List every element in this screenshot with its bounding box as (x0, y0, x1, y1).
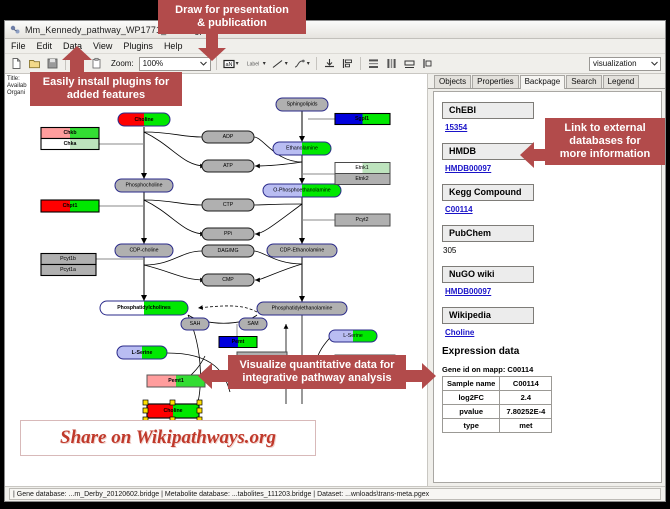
tool-bar: Zoom: 100% aN ▾ Label ▾ ▾ (5, 54, 665, 74)
row-key: log2FC (443, 391, 500, 405)
svg-text:L-Serine: L-Serine (132, 350, 153, 356)
menu-bar: File Edit Data View Plugins Help (5, 39, 665, 54)
node-sphingolipids: Sphingolipids (276, 98, 328, 111)
row-key: type (443, 419, 500, 433)
title-bar: Mm_Kennedy_pathway_WP1771_45176.gpml (5, 21, 665, 39)
node-l-serine-left: L-Serine (117, 346, 167, 359)
db-block-nugo: NuGO wiki HMDB00097 (442, 264, 661, 296)
node-cmp: CMP (202, 274, 254, 286)
chevron-down-icon (650, 60, 658, 68)
node-chkb: Chkb (41, 128, 99, 139)
visualization-value: visualization (593, 59, 637, 68)
node-choline-top: Choline (118, 113, 170, 126)
side-panel-tabs: Objects Properties Backpage Search Legen… (428, 74, 665, 89)
table-row: Sample name C00114 (443, 377, 552, 391)
svg-text:O-Phosphoethanolamine: O-Phosphoethanolamine (273, 188, 331, 194)
distribute-horizontal-icon[interactable] (384, 56, 399, 71)
gene-id-line: Gene id on mapp: C00114 (442, 365, 661, 374)
expression-data-title: Expression data (442, 346, 661, 357)
db-block-kegg: Kegg Compound C00114 (442, 182, 661, 214)
chevron-down-icon: ▾ (263, 61, 266, 67)
callout-draw: Draw for presentation & publication (158, 0, 306, 34)
svg-text:Sphingolipids: Sphingolipids (287, 102, 318, 108)
callout-draw-line2: & publication (166, 17, 298, 30)
svg-text:Label: Label (247, 62, 259, 68)
db-link-wikipedia[interactable]: Choline (445, 328, 661, 337)
svg-text:Ethanolamine: Ethanolamine (286, 146, 318, 152)
callout-plugins: Easily install plugins for added feature… (30, 72, 182, 106)
node-pcyt1b: Pcyt1b (41, 254, 96, 265)
callout-link: Link to external databases for more info… (545, 118, 665, 165)
node-pcyt2: Pcyt2 (335, 214, 390, 226)
svg-text:Etnk2: Etnk2 (355, 176, 368, 182)
save-icon[interactable] (45, 56, 60, 71)
chevron-down-icon: ▾ (285, 61, 288, 67)
toolbar-separator-4 (360, 57, 361, 70)
status-text: | Gene database: ...m_Derby_20120602.bri… (9, 488, 661, 500)
node-etnk1: Etnk1 (335, 163, 390, 174)
callout-link-line1: Link to external (553, 122, 657, 135)
svg-text:Chka: Chka (64, 141, 77, 147)
share-banner-text: Share on Wikipathways.org (60, 427, 276, 449)
align-width-icon[interactable] (402, 56, 417, 71)
distribute-vertical-icon[interactable] (366, 56, 381, 71)
svg-text:ATP: ATP (223, 163, 233, 169)
node-sgpl1: Sgpl1 (335, 114, 390, 125)
callout-plugins-arrow (60, 46, 96, 74)
node-chpt1: Chpt1 (41, 200, 99, 212)
table-row: type met (443, 419, 552, 433)
align-stack-icon[interactable] (420, 56, 435, 71)
db-link-nugo[interactable]: HMDB00097 (445, 287, 661, 296)
svg-text:PPi: PPi (224, 231, 232, 237)
callout-link-arrow (520, 140, 548, 170)
svg-text:DAG/MG: DAG/MG (217, 248, 238, 254)
svg-text:CTP: CTP (223, 202, 234, 208)
node-pemt: Pemt (219, 337, 257, 348)
line-tool[interactable]: ▾ (270, 56, 289, 71)
interaction-tool[interactable]: ▾ (292, 56, 311, 71)
callout-link-line2: databases for (553, 135, 657, 148)
tab-search[interactable]: Search (566, 75, 601, 88)
svg-text:L-Serine: L-Serine (343, 333, 363, 339)
svg-text:Pcyt2: Pcyt2 (356, 217, 369, 223)
row-key: pvalue (443, 405, 500, 419)
svg-text:SAM: SAM (247, 321, 258, 327)
menu-edit[interactable]: Edit (36, 41, 54, 51)
table-row: pvalue 7.80252E-4 (443, 405, 552, 419)
db-heading-pubchem: PubChem (442, 225, 534, 242)
node-ppi: PPi (202, 228, 254, 240)
open-folder-icon[interactable] (27, 56, 42, 71)
db-value-pubchem: 305 (443, 246, 661, 255)
node-cdp-ethanolamine: CDP-Ethanolamine (267, 244, 337, 257)
node-pemt1: Pemt1 (147, 375, 205, 387)
node-sam: SAM (239, 318, 267, 330)
node-phosphocholine: Phosphocholine (115, 179, 173, 192)
tab-backpage[interactable]: Backpage (520, 75, 566, 89)
svg-text:CDP-Ethanolamine: CDP-Ethanolamine (280, 248, 325, 254)
table-row: log2FC 2.4 (443, 391, 552, 405)
callout-visualize-arrow-left (198, 362, 230, 390)
node-chka: Chka (41, 139, 99, 150)
node-o-phosphoethanolamine: O-Phosphoethanolamine (263, 184, 341, 197)
callout-link-line3: more information (553, 148, 657, 161)
app-icon (9, 24, 21, 36)
menu-help[interactable]: Help (163, 41, 184, 51)
svg-text:Etnk1: Etnk1 (355, 165, 368, 171)
node-dag-mg: DAG/MG (202, 245, 254, 257)
svg-text:Chkb: Chkb (64, 130, 77, 136)
row-value: C00114 (500, 377, 552, 391)
node-ethanolamine-1: Ethanolamine (273, 142, 331, 155)
share-banner: Share on Wikipathways.org (20, 420, 316, 456)
row-value: 2.4 (500, 391, 552, 405)
chevron-down-icon: ▾ (307, 61, 310, 67)
node-sah: SAH (181, 318, 209, 330)
node-phosphatidylethanolamine: Phosphatidylethanolamine (257, 302, 347, 315)
menu-plugins[interactable]: Plugins (122, 41, 154, 51)
svg-text:CMP: CMP (222, 277, 234, 283)
row-key: Sample name (443, 377, 500, 391)
row-value: met (500, 419, 552, 433)
db-link-kegg[interactable]: C00114 (445, 205, 661, 214)
node-pcyt1a: Pcyt1a (41, 265, 96, 276)
node-cdp-choline: CDP-choline (115, 244, 173, 257)
callout-visualize-line2: integrative pathway analysis (236, 372, 398, 385)
zoom-label: Zoom: (111, 59, 134, 68)
label-tool[interactable]: Label ▾ (243, 56, 267, 71)
db-block-pubchem: PubChem 305 (442, 223, 661, 255)
svg-text:Pemt: Pemt (232, 339, 245, 345)
expression-table: Sample name C00114 log2FC 2.4 pvalue 7.8… (442, 376, 552, 433)
callout-visualize-line1: Visualize quantitative data for (236, 359, 398, 372)
tab-legend[interactable]: Legend (603, 75, 640, 88)
status-bar: | Gene database: ...m_Derby_20120602.bri… (5, 486, 665, 501)
new-file-icon[interactable] (9, 56, 24, 71)
svg-text:Sgpl1: Sgpl1 (355, 116, 369, 122)
tab-objects[interactable]: Objects (434, 75, 471, 88)
node-ctp: CTP (202, 199, 254, 211)
db-heading-kegg: Kegg Compound (442, 184, 534, 201)
svg-text:SAH: SAH (190, 321, 201, 327)
callout-plugins-line2: added features (38, 89, 174, 102)
callout-plugins-line1: Easily install plugins for (38, 76, 174, 89)
svg-text:Choline: Choline (163, 408, 182, 414)
toolbar-separator-3 (316, 57, 317, 70)
svg-text:Pcyt1a: Pcyt1a (60, 267, 76, 273)
callout-visualize: Visualize quantitative data for integrat… (228, 355, 406, 389)
db-heading-nugo: NuGO wiki (442, 266, 534, 283)
db-heading-wikipedia: Wikipedia (442, 307, 534, 324)
svg-text:Pemt1: Pemt1 (168, 378, 184, 384)
node-l-serine-right: L-Serine (329, 330, 377, 342)
callout-visualize-arrow-right (404, 362, 436, 390)
row-value: 7.80252E-4 (500, 405, 552, 419)
callout-draw-arrow (195, 34, 229, 62)
svg-text:aN: aN (225, 62, 232, 68)
svg-text:ADP: ADP (223, 134, 234, 140)
node-etnk2: Etnk2 (335, 174, 390, 185)
align-left-icon[interactable] (340, 56, 355, 71)
svg-text:Chpt1: Chpt1 (63, 203, 78, 209)
node-choline-selected: Choline (143, 400, 202, 422)
chevron-down-icon: ▾ (236, 61, 239, 67)
zoom-value: 100% (143, 59, 163, 68)
menu-file[interactable]: File (10, 41, 27, 51)
node-phosphatidylcholines: Phosphatidylcholines (100, 301, 188, 315)
callout-draw-line1: Draw for presentation (166, 4, 298, 17)
screenshot-root: Mm_Kennedy_pathway_WP1771_45176.gpml Fil… (0, 0, 670, 509)
db-block-wikipedia: Wikipedia Choline (442, 305, 661, 337)
svg-text:Pcyt1b: Pcyt1b (60, 256, 76, 262)
db-heading-chebi: ChEBI (442, 102, 534, 119)
tab-properties[interactable]: Properties (472, 75, 518, 88)
svg-text:Phosphocholine: Phosphocholine (126, 183, 163, 189)
svg-text:Phosphatidylcholines: Phosphatidylcholines (117, 305, 171, 311)
visualization-combo[interactable]: visualization (589, 57, 661, 71)
svg-text:Phosphatidylethanolamine: Phosphatidylethanolamine (272, 306, 333, 312)
svg-text:CDP-choline: CDP-choline (129, 248, 158, 254)
db-link-hmdb[interactable]: HMDB00097 (445, 164, 661, 173)
align-top-icon[interactable] (322, 56, 337, 71)
svg-text:Choline: Choline (134, 117, 153, 123)
node-adp: ADP (202, 131, 254, 143)
node-atp: ATP (202, 160, 254, 172)
